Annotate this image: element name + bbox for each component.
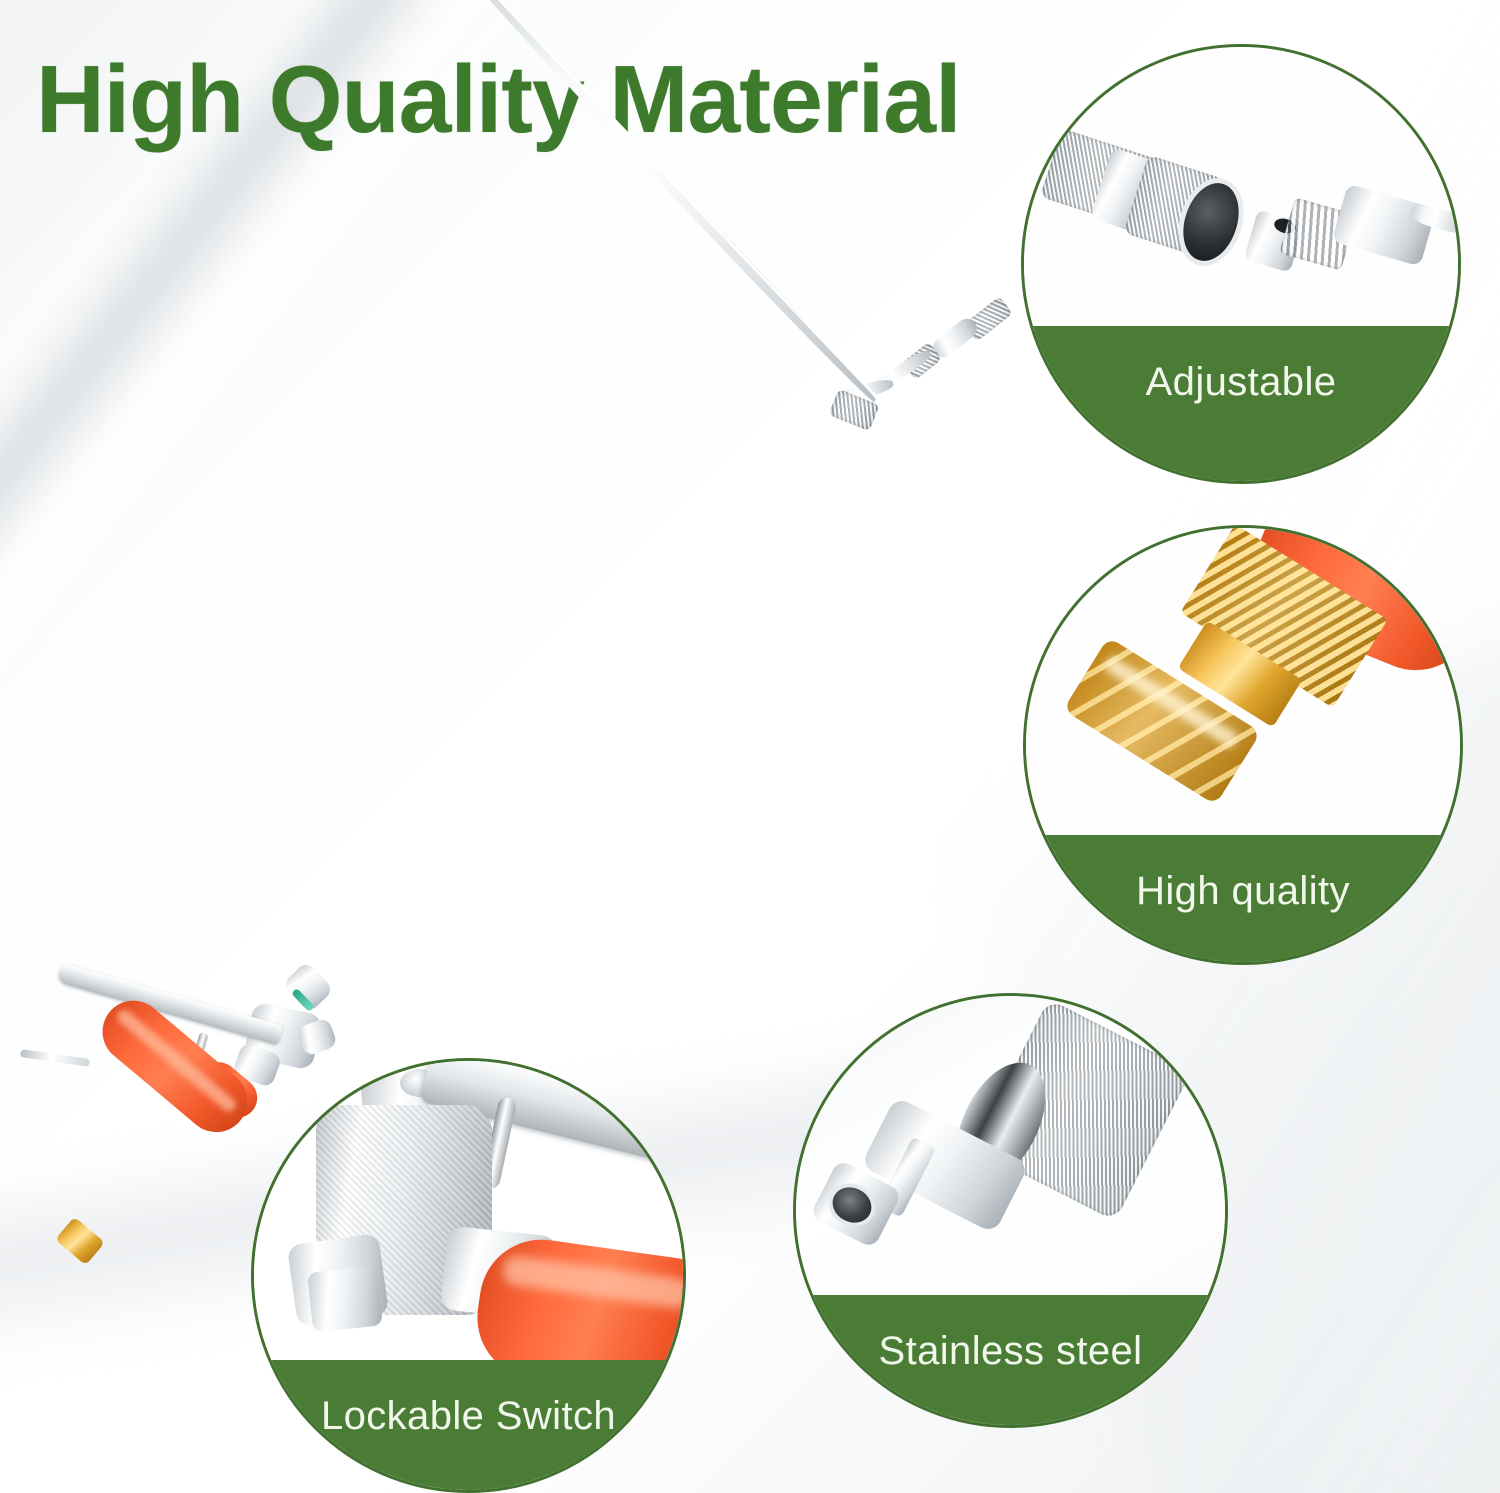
callout-label-band-adjustable-nozzle: AdjustableNozzle bbox=[1024, 326, 1458, 481]
callout-label-band-stainless-steel-connector: Stainless steelconnector bbox=[796, 1295, 1225, 1425]
callout-label-band-high-quality-brass: High qualitybrass bbox=[1026, 835, 1460, 962]
callout-lockable-switch-handle[interactable]: Lockable SwitchHandle bbox=[251, 1058, 686, 1493]
callout-photo-high-quality-brass bbox=[1026, 528, 1460, 841]
callout-label-adjustable-nozzle: AdjustableNozzle bbox=[1146, 326, 1337, 484]
callout-adjustable-nozzle[interactable]: AdjustableNozzle bbox=[1021, 44, 1461, 484]
callout-label-stainless-steel-connector: Stainless steelconnector bbox=[879, 1295, 1143, 1428]
valve-hex-nut bbox=[307, 1266, 383, 1333]
callout-photo-stainless-steel-connector bbox=[796, 996, 1225, 1301]
callout-label-high-quality-brass: High qualitybrass bbox=[1136, 835, 1350, 965]
hose-barb-inlet bbox=[55, 1217, 105, 1266]
callout-high-quality-brass[interactable]: High qualitybrass bbox=[1023, 525, 1463, 965]
infographic-canvas: High Quality Material bbox=[0, 0, 1500, 1493]
callout-photo-adjustable-nozzle bbox=[1024, 47, 1458, 332]
callout-label-band-lockable-switch-handle: Lockable SwitchHandle bbox=[254, 1360, 683, 1490]
callout-stainless-steel-connector[interactable]: Stainless steelconnector bbox=[793, 993, 1228, 1428]
trigger-lever-tip bbox=[20, 1049, 90, 1067]
callout-label-lockable-switch-handle: Lockable SwitchHandle bbox=[321, 1360, 616, 1493]
nozzle-stem-body bbox=[1332, 183, 1437, 266]
callout-photo-lockable-switch-handle bbox=[254, 1061, 683, 1366]
page-title: High Quality Material bbox=[36, 52, 1046, 148]
